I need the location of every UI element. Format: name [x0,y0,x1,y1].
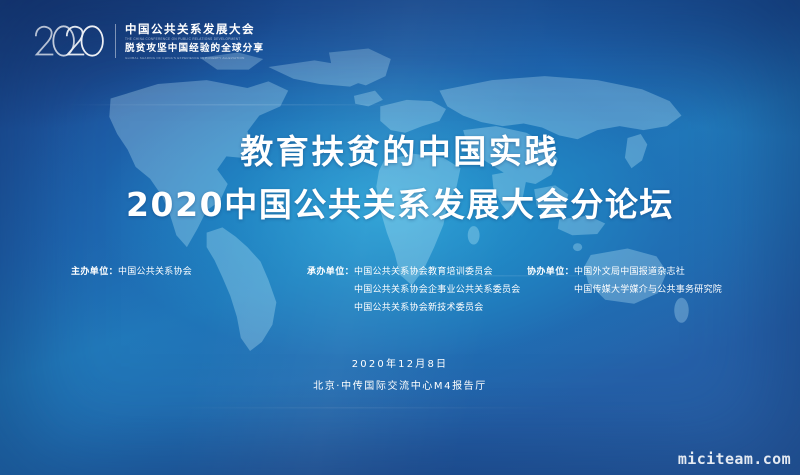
organizer-value: 中国公共关系协会企事业公共关系委员会 [354,284,521,297]
host-row: 主办单位： 中国公共关系协会 [71,266,307,279]
organizer-column: 承办单位： 中国公共关系协会教育培训委员会 承办单位： 中国公共关系协会企事业公… [307,266,527,315]
logo-2020-monogram-icon [30,18,106,64]
logo-english-title: THE CHINA CONFERENCE ON PUBLIC RELATIONS… [125,37,264,42]
main-title-block: 教育扶贫的中国实践 2020中国公共关系发展大会分论坛 [0,132,800,226]
organizer-row: 承办单位： 中国公共关系协会新技术委员会 [307,302,527,315]
conference-logo: 中国公共关系发展大会 THE CHINA CONFERENCE ON PUBLI… [30,18,264,64]
supporter-value: 中国外文局中国报道杂志社 [574,266,685,279]
organizer-row: 承办单位： 中国公共关系协会教育培训委员会 [307,266,527,279]
logo-divider [115,24,116,58]
supporter-label: 协办单位： [527,266,574,279]
organizer-row: 承办单位： 中国公共关系协会企事业公共关系委员会 [307,284,527,297]
logo-chinese-subtitle: 脱贫攻坚中国经验的全球分享 [125,43,264,55]
organizer-value: 中国公共关系协会新技术委员会 [354,302,484,315]
organizer-value: 中国公共关系协会教育培训委员会 [354,266,493,279]
supporter-row: 协办单位： 中国传媒大学媒介与公共事务研究院 [527,284,745,297]
logo-english-subtitle: GLOBAL SHARING OF CHINA'S EXPERIENCE IN … [125,56,264,61]
logo-text-block: 中国公共关系发展大会 THE CHINA CONFERENCE ON PUBLI… [125,22,264,61]
organizers-block: 主办单位： 中国公共关系协会 承办单位： 中国公共关系协会教育培训委员会 承办单… [0,266,800,315]
watermark: miciteam.com [678,450,791,468]
page-subtitle: 2020中国公共关系发展大会分论坛 [0,185,800,225]
event-info-block: 2020年12月8日 北京·中传国际交流中心M4报告厅 [0,357,800,394]
supporter-value: 中国传媒大学媒介与公共事务研究院 [574,284,722,297]
event-date: 2020年12月8日 [0,357,800,372]
supporter-row: 协办单位： 中国外文局中国报道杂志社 [527,266,745,279]
logo-chinese-title: 中国公共关系发展大会 [125,23,264,36]
organizer-label: 承办单位： [307,266,354,279]
background-vignette [0,0,800,475]
host-label: 主办单位： [71,266,118,279]
conference-backdrop-poster: 中国公共关系发展大会 THE CHINA CONFERENCE ON PUBLI… [0,0,800,475]
host-column: 主办单位： 中国公共关系协会 [55,266,307,279]
page-title: 教育扶贫的中国实践 [0,132,800,172]
event-venue: 北京·中传国际交流中心M4报告厅 [0,379,800,394]
supporter-column: 协办单位： 中国外文局中国报道杂志社 协办单位： 中国传媒大学媒介与公共事务研究… [527,266,745,297]
host-value: 中国公共关系协会 [118,266,192,279]
